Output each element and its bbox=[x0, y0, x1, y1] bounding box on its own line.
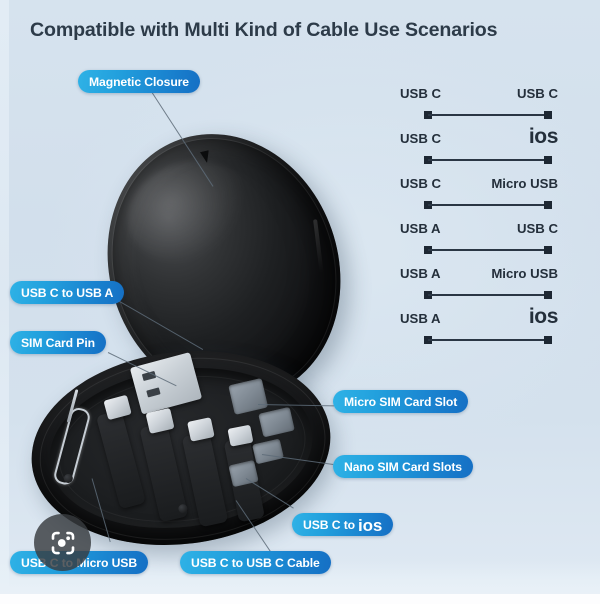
callout-label: USB C to USB A bbox=[21, 286, 113, 300]
connector-label-right-ios: ios bbox=[529, 127, 558, 146]
connector-label-right: Micro USB bbox=[491, 264, 558, 284]
connector-label-left: USB C bbox=[400, 129, 441, 149]
connector-label-left: USB A bbox=[400, 264, 441, 284]
screenshot-root: Compatible with Multi Kind of Cable Use … bbox=[0, 0, 600, 604]
compatibility-row: USB C USB C bbox=[398, 84, 560, 129]
callout-label: Nano SIM Card Slots bbox=[344, 460, 462, 474]
cable-wire bbox=[428, 249, 548, 251]
google-lens-button[interactable] bbox=[34, 514, 91, 571]
compatibility-row: USB A USB C bbox=[398, 219, 560, 264]
cable-tip-right bbox=[544, 201, 552, 209]
cable-graphic bbox=[424, 111, 552, 119]
callout-label: Magnetic Closure bbox=[89, 75, 189, 89]
cable-wire bbox=[428, 204, 548, 206]
google-lens-icon bbox=[48, 528, 78, 558]
cable-graphic bbox=[424, 201, 552, 209]
cable-wire bbox=[428, 294, 548, 296]
cable-wire bbox=[428, 114, 548, 116]
cable-graphic bbox=[424, 156, 552, 164]
cable-tip-right bbox=[544, 246, 552, 254]
callout-usb-c-to-usb-a[interactable]: USB C to USB A bbox=[10, 281, 124, 304]
callout-label: USB C to USB C Cable bbox=[191, 556, 320, 570]
compatibility-list: USB C USB C USB C ios USB C bbox=[398, 84, 560, 354]
page-title: Compatible with Multi Kind of Cable Use … bbox=[30, 19, 575, 42]
compatibility-row: USB A Micro USB bbox=[398, 264, 560, 309]
background-bottom-strip bbox=[0, 594, 600, 604]
cable-tip-right bbox=[544, 336, 552, 344]
cable-wire bbox=[428, 159, 548, 161]
connector-label-right-ios: ios bbox=[529, 307, 558, 326]
cable-graphic bbox=[424, 291, 552, 299]
cable-wire bbox=[428, 339, 548, 341]
ios-wordmark: ios bbox=[358, 517, 382, 534]
connector-label-right: Micro USB bbox=[491, 174, 558, 194]
compatibility-row: USB C Micro USB bbox=[398, 174, 560, 219]
callout-magnetic-closure[interactable]: Magnetic Closure bbox=[78, 70, 200, 93]
background-left-band bbox=[0, 0, 9, 594]
cable-tip-right bbox=[544, 111, 552, 119]
compatibility-row: USB C ios bbox=[398, 129, 560, 174]
connector-label-left: USB A bbox=[400, 219, 441, 239]
cable-graphic bbox=[424, 336, 552, 344]
connector-label-left: USB A bbox=[400, 309, 441, 329]
callout-usb-c-to-usb-c-cable[interactable]: USB C to USB C Cable bbox=[180, 551, 331, 574]
callout-label: Micro SIM Card Slot bbox=[344, 395, 457, 409]
callout-label: SIM Card Pin bbox=[21, 336, 95, 350]
connector-label-right: USB C bbox=[517, 219, 558, 239]
callout-sim-card-pin[interactable]: SIM Card Pin bbox=[10, 331, 106, 354]
connector-label-left: USB C bbox=[400, 84, 441, 104]
cable-graphic bbox=[424, 246, 552, 254]
callout-label: USB C to bbox=[303, 518, 355, 532]
compatibility-row: USB A ios bbox=[398, 309, 560, 354]
callout-micro-sim-card-slot[interactable]: Micro SIM Card Slot bbox=[333, 390, 468, 413]
callout-usb-c-to-ios[interactable]: USB C to ios bbox=[292, 513, 393, 536]
callout-nano-sim-card-slots[interactable]: Nano SIM Card Slots bbox=[333, 455, 473, 478]
cable-tip-right bbox=[544, 156, 552, 164]
cable-tip-right bbox=[544, 291, 552, 299]
connector-label-right: USB C bbox=[517, 84, 558, 104]
connector-label-left: USB C bbox=[400, 174, 441, 194]
